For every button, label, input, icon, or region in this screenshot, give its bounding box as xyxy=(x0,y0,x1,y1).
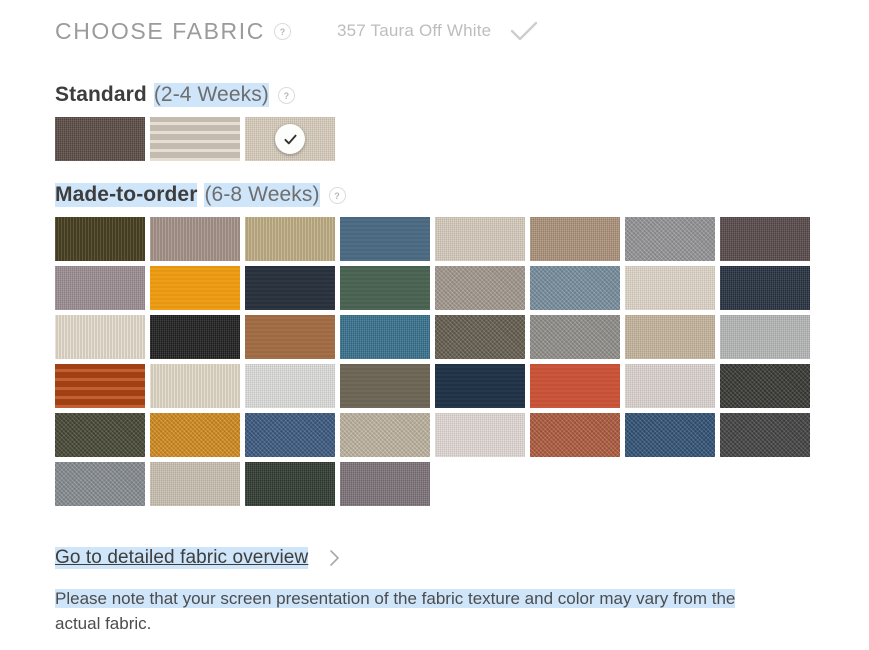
swatch-texture xyxy=(435,364,525,408)
help-circle-icon[interactable]: ? xyxy=(329,187,346,204)
swatch-texture xyxy=(625,217,715,261)
fabric-header: CHOOSE FABRIC ? 357 Taura Off White xyxy=(55,14,539,48)
fabric-swatch-light-beige-weave[interactable] xyxy=(435,217,525,261)
swatch-texture xyxy=(55,217,145,261)
fabric-swatch-dark-olive-rib[interactable] xyxy=(55,217,145,261)
section-standard-heading: Standard (2-4 Weeks) ? xyxy=(55,82,295,108)
fabric-swatch-cream-stripe[interactable] xyxy=(150,364,240,408)
fabric-swatch-cognac-brown[interactable] xyxy=(245,315,335,359)
swatch-texture xyxy=(55,462,145,506)
fabric-swatch-cream-weave[interactable] xyxy=(625,266,715,310)
fabric-swatch-dark-navy-slate[interactable] xyxy=(245,266,335,310)
fabric-swatch-grey-speckle[interactable] xyxy=(625,217,715,261)
fabric-swatch-mauve-grey[interactable] xyxy=(55,266,145,310)
help-circle-icon[interactable]: ? xyxy=(278,87,295,104)
swatch-texture xyxy=(340,315,430,359)
fabric-swatch-denim-blue[interactable] xyxy=(245,413,335,457)
fabric-swatch-dark-forest-green[interactable] xyxy=(245,462,335,506)
section-mto-leadtime: (6-8 Weeks) xyxy=(204,183,319,207)
fabric-swatch-khaki-rib[interactable] xyxy=(245,217,335,261)
fabric-swatch-rust-corduroy[interactable] xyxy=(55,364,145,408)
swatch-texture xyxy=(55,315,145,359)
swatch-texture xyxy=(55,266,145,310)
fabric-swatch-navy-blue[interactable] xyxy=(720,266,810,310)
fabric-swatch-olive-brown[interactable] xyxy=(340,364,430,408)
swatch-texture xyxy=(340,364,430,408)
swatch-texture xyxy=(530,217,620,261)
swatch-texture xyxy=(530,413,620,457)
fabric-swatch-terracotta[interactable] xyxy=(530,413,620,457)
section-standard-title: Standard xyxy=(55,83,147,107)
fabric-swatch-pale-grey-white[interactable] xyxy=(245,364,335,408)
swatch-texture xyxy=(150,364,240,408)
swatch-texture xyxy=(625,364,715,408)
made-to-order-swatch-grid xyxy=(55,217,830,511)
swatch-texture xyxy=(245,462,335,506)
swatch-texture xyxy=(530,266,620,310)
swatch-texture xyxy=(435,217,525,261)
fabric-swatch-dark-brown-textured[interactable] xyxy=(55,117,145,161)
swatch-texture xyxy=(720,413,810,457)
swatch-texture xyxy=(435,266,525,310)
fabric-swatch-slate-blue-weave[interactable] xyxy=(530,266,620,310)
swatch-texture xyxy=(245,364,335,408)
fabric-swatch-dark-olive-grey[interactable] xyxy=(435,315,525,359)
selected-fabric-label: 357 Taura Off White xyxy=(337,21,491,41)
swatch-texture xyxy=(340,266,430,310)
fabric-swatch-tan-weave[interactable] xyxy=(530,217,620,261)
fabric-swatch-dark-brown-grey[interactable] xyxy=(720,217,810,261)
chevron-right-icon[interactable] xyxy=(328,549,340,567)
fabric-swatch-dark-charcoal[interactable] xyxy=(720,413,810,457)
swatch-texture xyxy=(625,413,715,457)
choose-fabric-panel: CHOOSE FABRIC ? 357 Taura Off White Stan… xyxy=(0,0,869,650)
fabric-swatch-steel-blue[interactable] xyxy=(340,217,430,261)
swatch-texture xyxy=(55,117,145,161)
swatch-texture xyxy=(625,266,715,310)
fabric-disclaimer-line1: Please note that your screen presentatio… xyxy=(55,589,735,608)
swatch-texture xyxy=(340,217,430,261)
fabric-swatch-beige-linen[interactable] xyxy=(150,462,240,506)
fabric-swatch-forest-green[interactable] xyxy=(340,266,430,310)
fabric-swatch-blue-grey-speckle[interactable] xyxy=(55,462,145,506)
fabric-disclaimer: Please note that your screen presentatio… xyxy=(55,586,830,636)
swatch-texture xyxy=(530,364,620,408)
fabric-swatch-light-pink-grey[interactable] xyxy=(625,364,715,408)
fabric-swatch-medium-grey[interactable] xyxy=(530,315,620,359)
swatch-texture xyxy=(435,315,525,359)
fabric-swatch-blue-denim-dark[interactable] xyxy=(625,413,715,457)
fabric-swatch-taupe-rib[interactable] xyxy=(150,217,240,261)
swatch-texture xyxy=(245,266,335,310)
swatch-texture xyxy=(625,315,715,359)
swatch-texture xyxy=(245,315,335,359)
page-title: CHOOSE FABRIC xyxy=(55,18,265,45)
standard-swatch-grid xyxy=(55,117,830,166)
detailed-fabric-overview-link[interactable]: Go to detailed fabric overview xyxy=(55,547,308,569)
fabric-swatch-teal-blue[interactable] xyxy=(340,315,430,359)
section-standard-leadtime: (2-4 Weeks) xyxy=(154,83,269,107)
swatch-texture xyxy=(55,413,145,457)
swatch-texture xyxy=(150,117,240,161)
swatch-texture xyxy=(340,413,430,457)
swatch-texture xyxy=(720,266,810,310)
swatch-texture xyxy=(340,462,430,506)
swatch-texture xyxy=(150,217,240,261)
swatch-texture xyxy=(150,266,240,310)
swatch-texture xyxy=(150,413,240,457)
fabric-disclaimer-line2: actual fabric. xyxy=(55,614,151,633)
swatch-texture xyxy=(150,462,240,506)
fabric-swatch-taura-off-white[interactable] xyxy=(245,117,335,161)
fabric-swatch-charcoal-boucle[interactable] xyxy=(720,364,810,408)
fabric-swatch-deep-navy[interactable] xyxy=(435,364,525,408)
swatch-texture xyxy=(435,413,525,457)
fabric-swatch-amber-yellow[interactable] xyxy=(150,266,240,310)
swatch-texture xyxy=(720,315,810,359)
fabric-overview-link-row: Go to detailed fabric overview xyxy=(55,545,340,571)
fabric-swatch-ivory-rib[interactable] xyxy=(55,315,145,359)
check-icon xyxy=(509,20,539,42)
swatch-texture xyxy=(150,315,240,359)
section-made-to-order-heading: Made-to-order (6-8 Weeks) ? xyxy=(55,182,346,208)
fabric-swatch-sand-weave[interactable] xyxy=(625,315,715,359)
fabric-swatch-mauve-grey-dark[interactable] xyxy=(340,462,430,506)
swatch-texture xyxy=(245,413,335,457)
swatch-texture xyxy=(55,364,145,408)
fabric-swatch-dark-olive-green[interactable] xyxy=(55,413,145,457)
swatch-texture xyxy=(720,364,810,408)
section-mto-title: Made-to-order xyxy=(55,183,197,207)
fabric-swatch-warm-grey-weave[interactable] xyxy=(435,266,525,310)
fabric-swatch-beige-boucle[interactable] xyxy=(340,413,430,457)
help-circle-icon[interactable]: ? xyxy=(274,23,291,40)
swatch-texture xyxy=(530,315,620,359)
fabric-swatch-off-white-weave[interactable] xyxy=(435,413,525,457)
fabric-swatch-cream-ribbed[interactable] xyxy=(150,117,240,161)
selected-check-icon xyxy=(275,124,305,154)
fabric-swatch-near-black[interactable] xyxy=(150,315,240,359)
swatch-texture xyxy=(720,217,810,261)
fabric-swatch-golden-amber[interactable] xyxy=(150,413,240,457)
fabric-swatch-coral-red[interactable] xyxy=(530,364,620,408)
swatch-texture xyxy=(245,217,335,261)
fabric-swatch-light-grey[interactable] xyxy=(720,315,810,359)
